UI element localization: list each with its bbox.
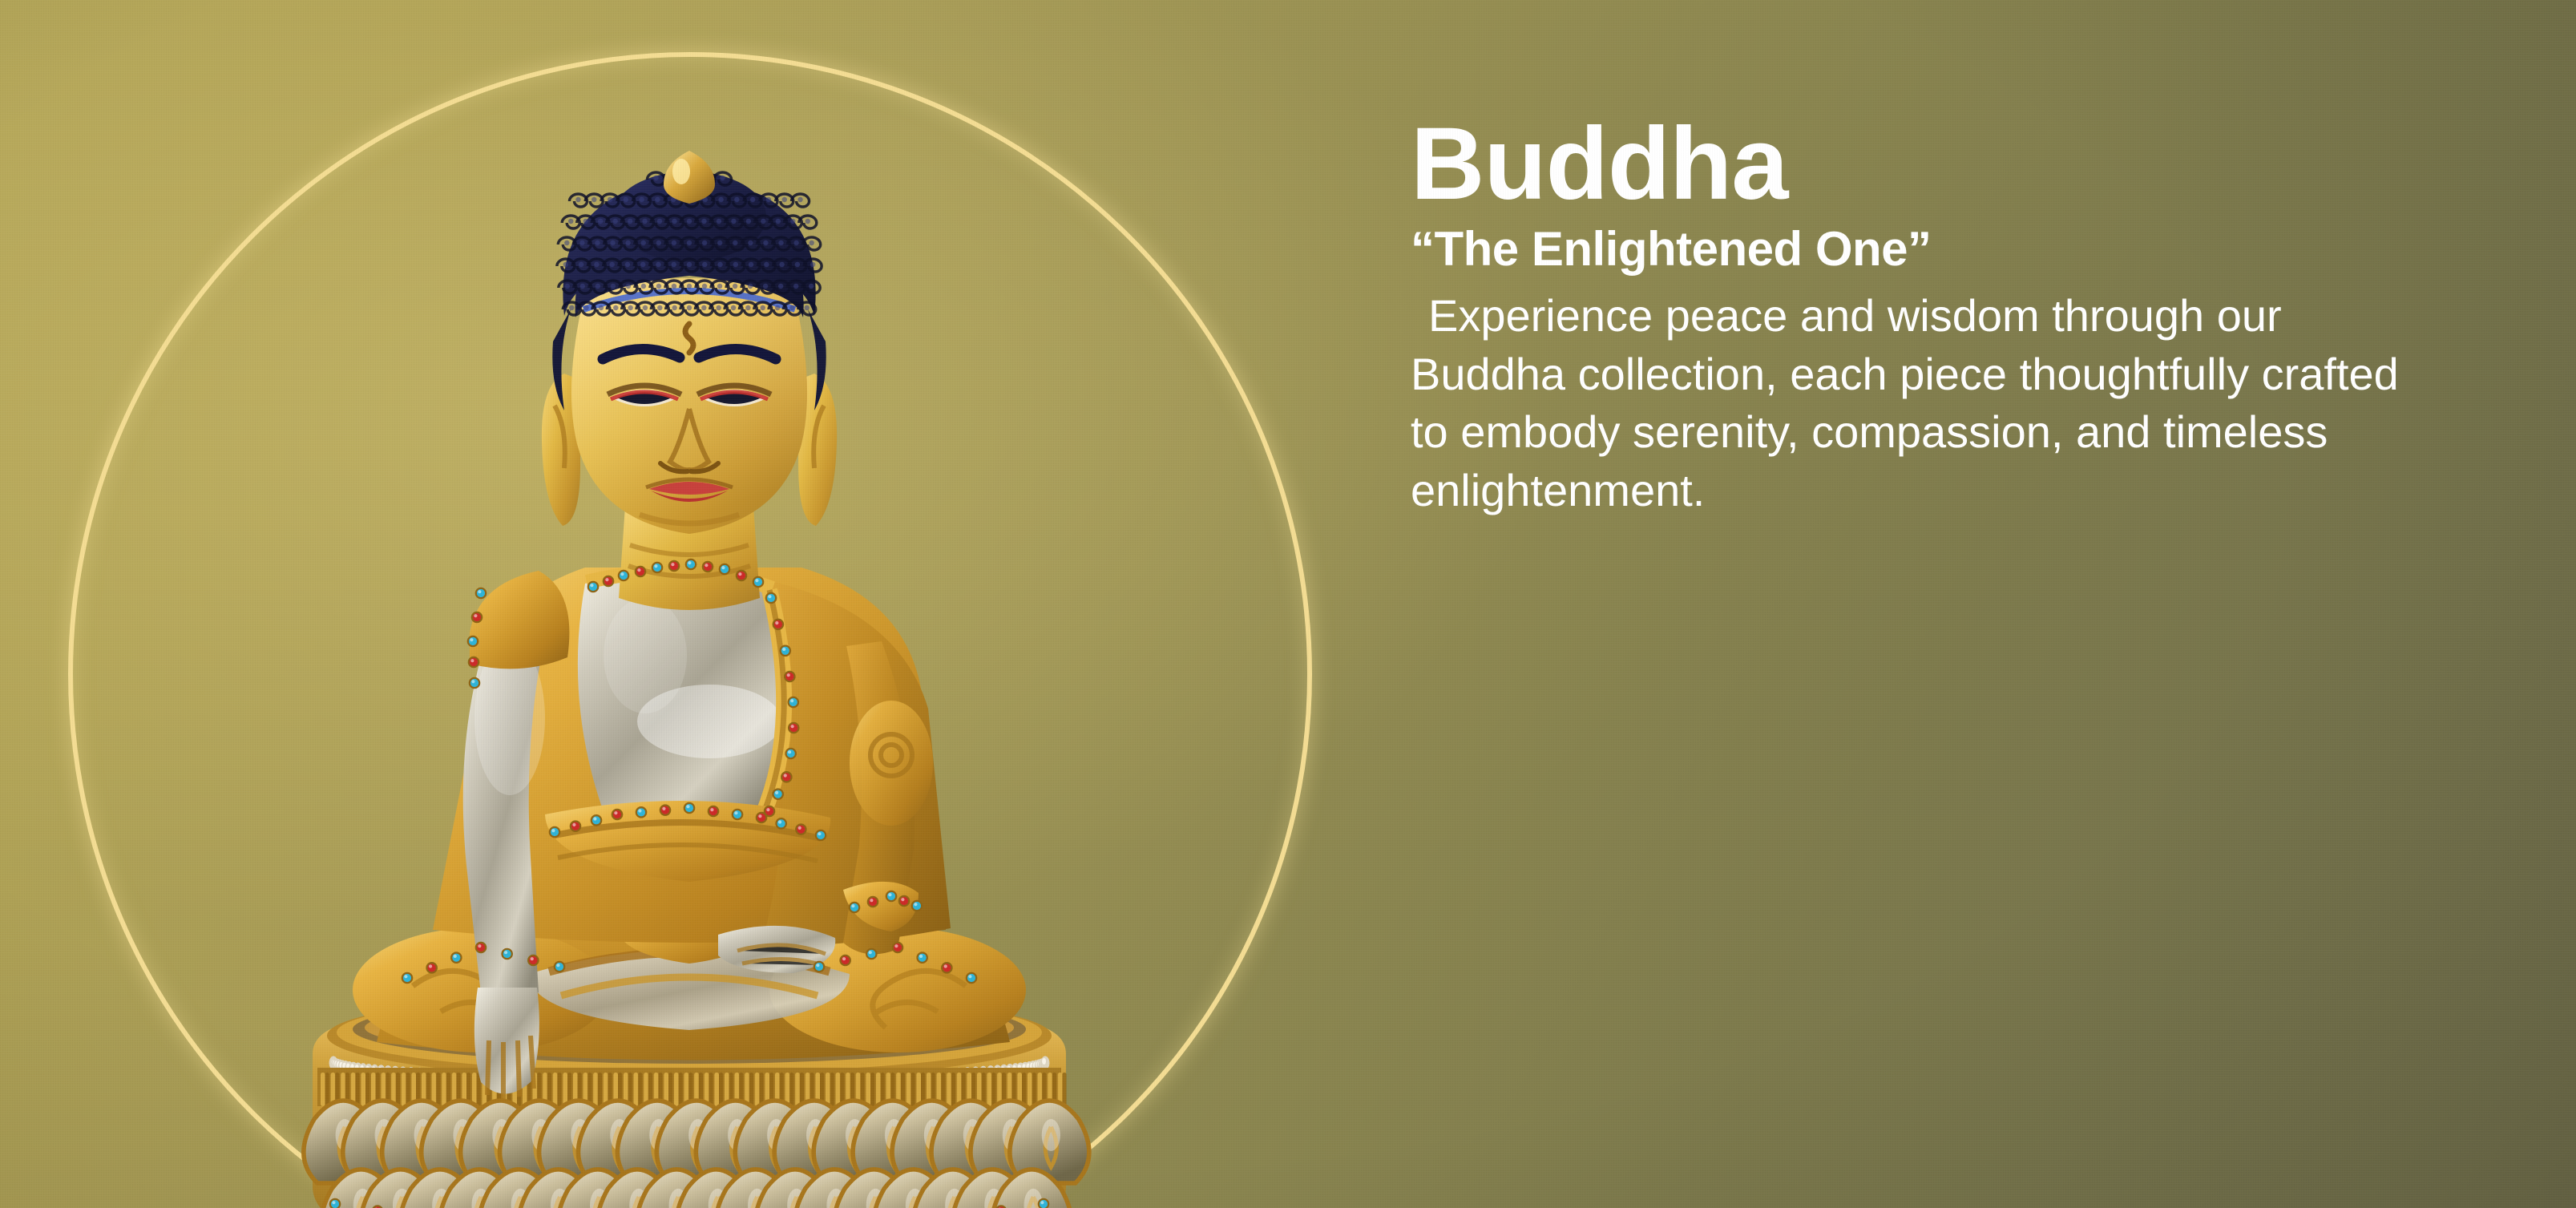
page-title: Buddha xyxy=(1411,112,2469,217)
buddha-statue-image xyxy=(240,144,1130,1208)
hero-description: Experience peace and wisdom through our … xyxy=(1411,287,2421,520)
hero-banner: Buddha “The Enlightened One” Experience … xyxy=(0,0,2576,1208)
hero-subtitle: “The Enlightened One” xyxy=(1411,222,2469,276)
hero-copy: Buddha “The Enlightened One” Experience … xyxy=(1411,112,2469,520)
